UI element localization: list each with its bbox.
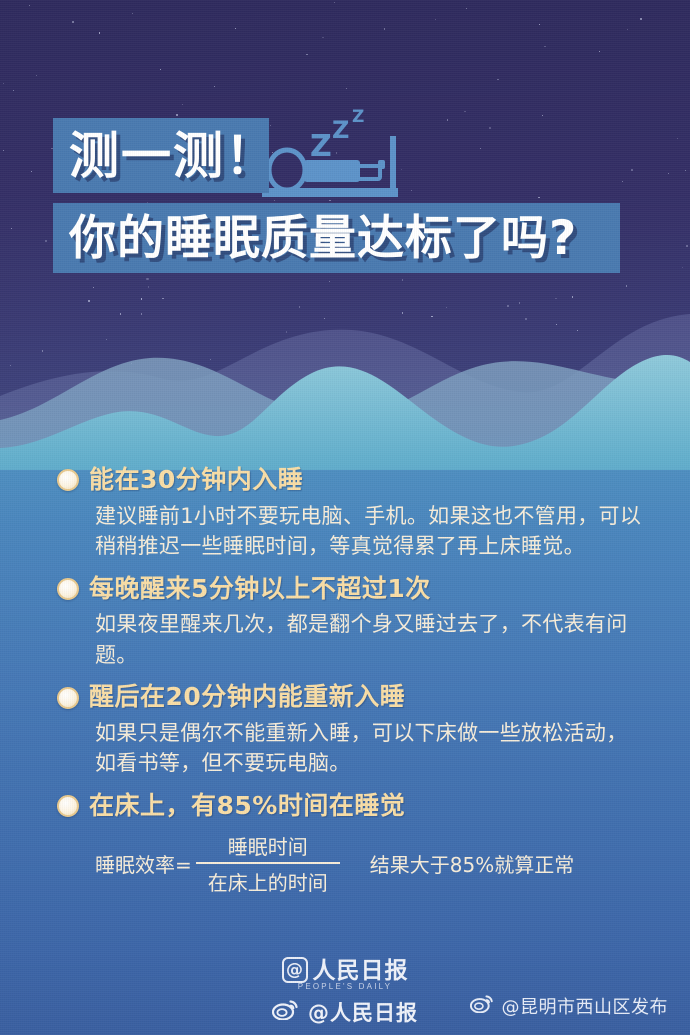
circle-bullet-icon: [57, 469, 79, 491]
sleep-checklist: 能在30分钟内入睡 建议睡前1小时不要玩电脑、手机。如果这也不管用，可以稍稍推迟…: [0, 466, 690, 909]
checklist-item: 能在30分钟内入睡 建议睡前1小时不要玩电脑、手机。如果这也不管用，可以稍稍推迟…: [0, 466, 690, 562]
checklist-item-title: 醒后在20分钟内能重新入睡: [89, 683, 405, 712]
checklist-item-body: 如果夜里醒来几次，都是翻个身又睡过去了，不代表有问题。: [95, 609, 645, 670]
circle-bullet-icon: [57, 795, 79, 817]
title-line1-text: 测一测！: [69, 131, 277, 181]
peoples-daily-name: 人民日报: [313, 960, 409, 983]
checklist-item-body: 建议睡前1小时不要玩电脑、手机。如果这也不管用，可以稍稍推迟一些睡眠时间，等真觉…: [95, 501, 645, 562]
checklist-item-title: 在床上，有85%时间在睡觉: [89, 792, 405, 821]
checklist-item: 每晚醒来5分钟以上不超过1次 如果夜里醒来几次，都是翻个身又睡过去了，不代表有问…: [0, 575, 690, 671]
sleep-efficiency-formula: 睡眠效率= 睡眠时间 在床上的时间 结果大于85%就算正常: [95, 831, 645, 896]
formula-denominator: 在床上的时间: [196, 864, 340, 896]
checklist-item-header: 醒后在20分钟内能重新入睡: [57, 683, 645, 712]
person-sleeping-in-bed-icon: Z Z Z: [262, 88, 422, 213]
formula-fraction: 睡眠时间 在床上的时间: [196, 831, 340, 896]
circle-bullet-icon: [57, 687, 79, 709]
title-banner-line1: 测一测！: [53, 118, 269, 193]
formula-numerator: 睡眠时间: [216, 831, 320, 862]
svg-text:Z: Z: [310, 129, 332, 164]
publisher-handle-text: @昆明市西山区发布: [502, 993, 669, 1019]
at-sign-icon: @: [282, 957, 308, 983]
checklist-item-header: 每晚醒来5分钟以上不超过1次: [57, 575, 645, 604]
publisher-credit: @昆明市西山区发布: [470, 993, 669, 1019]
checklist-item-body: 如果只是偶尔不能重新入睡，可以下床做一些放松活动，如看书等，但不要玩电脑。: [95, 718, 645, 779]
circle-bullet-icon: [57, 578, 79, 600]
poster-footer: @ 人民日报 PEOPLE'S DAILY @人民日报: [0, 955, 690, 1035]
checklist-item-title: 能在30分钟内入睡: [89, 466, 303, 495]
weibo-handle-text: @人民日报: [308, 997, 418, 1027]
title-line2-text: 你的睡眠质量达标了吗?: [69, 215, 577, 262]
checklist-item: 醒后在20分钟内能重新入睡 如果只是偶尔不能重新入睡，可以下床做一些放松活动，如…: [0, 683, 690, 779]
weibo-icon: [272, 999, 299, 1025]
title-banner-line2: 你的睡眠质量达标了吗?: [53, 203, 620, 273]
formula-label: 睡眠效率=: [95, 849, 192, 878]
peoples-daily-logo: @ 人民日报: [0, 957, 690, 983]
checklist-item-header: 在床上，有85%时间在睡觉: [57, 792, 645, 821]
sleep-quality-infographic: Z Z Z 测一测！: [0, 0, 690, 1035]
checklist-item-title: 每晚醒来5分钟以上不超过1次: [89, 575, 431, 604]
weibo-icon: [470, 994, 494, 1018]
checklist-item: 在床上，有85%时间在睡觉 睡眠效率= 睡眠时间 在床上的时间 结果大于85%就…: [0, 792, 690, 896]
formula-note: 结果大于85%就算正常: [370, 849, 574, 878]
poster-header: Z Z Z 测一测！: [0, 0, 690, 300]
peoples-daily-subtitle: PEOPLE'S DAILY: [0, 982, 690, 991]
svg-text:Z: Z: [352, 107, 364, 127]
checklist-item-header: 能在30分钟内入睡: [57, 466, 645, 495]
svg-text:Z: Z: [332, 116, 349, 144]
